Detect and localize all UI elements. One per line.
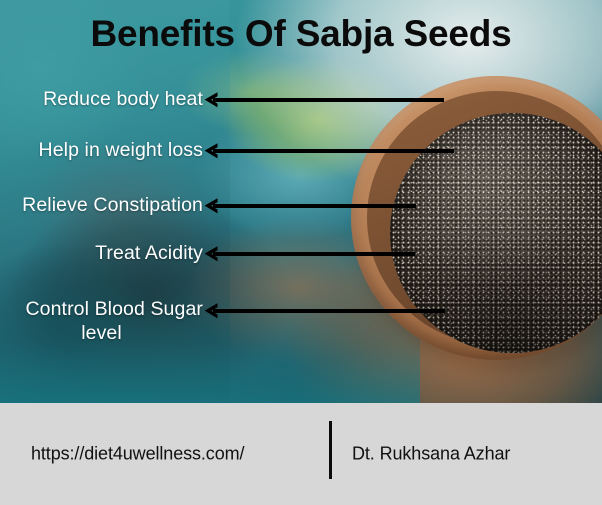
arrow-head-left-icon xyxy=(203,302,221,320)
page-title: Benefits Of Sabja Seeds xyxy=(0,11,602,57)
arrow-shaft xyxy=(213,98,444,102)
benefit-label-line1: Relieve Constipation xyxy=(22,194,203,216)
benefit-label-line1: Treat Acidity xyxy=(95,242,203,264)
sabja-seeds-bowl-image xyxy=(351,76,602,366)
arrow-head-left-icon xyxy=(203,197,221,215)
footer-author-name: Dt. Rukhsana Azhar xyxy=(352,444,510,465)
arrow-head-left-icon xyxy=(203,245,221,263)
arrow-shaft xyxy=(213,149,454,153)
pointer-arrow-3 xyxy=(203,197,416,215)
arrow-shaft xyxy=(213,309,445,313)
infographic-canvas: Benefits Of Sabja Seeds Reduce body heat… xyxy=(0,0,602,505)
footer-website-link[interactable]: https://diet4uwellness.com/ xyxy=(31,444,244,465)
footer-divider xyxy=(329,421,332,479)
benefit-label-2: Help in weight loss xyxy=(0,138,203,162)
benefit-label-3: Relieve Constipation xyxy=(0,193,203,217)
benefit-label-line1: Reduce body heat xyxy=(43,88,203,110)
benefit-label-4: Treat Acidity xyxy=(0,241,203,265)
pointer-arrow-1 xyxy=(203,91,444,109)
benefit-label-5: Control Blood Sugarlevel xyxy=(0,297,203,345)
benefit-label-line1: Control Blood Sugar xyxy=(25,298,203,320)
arrow-shaft xyxy=(213,204,416,208)
arrow-head-left-icon xyxy=(203,91,221,109)
pointer-arrow-2 xyxy=(203,142,454,160)
pointer-arrow-4 xyxy=(203,245,415,263)
benefit-label-line1: Help in weight loss xyxy=(39,139,203,161)
footer-bar: https://diet4uwellness.com/ Dt. Rukhsana… xyxy=(0,403,602,505)
benefit-label-1: Reduce body heat xyxy=(0,87,203,111)
pointer-arrow-5 xyxy=(203,302,445,320)
benefit-label-line2: level xyxy=(0,321,203,345)
arrow-shaft xyxy=(213,252,415,256)
arrow-head-left-icon xyxy=(203,142,221,160)
